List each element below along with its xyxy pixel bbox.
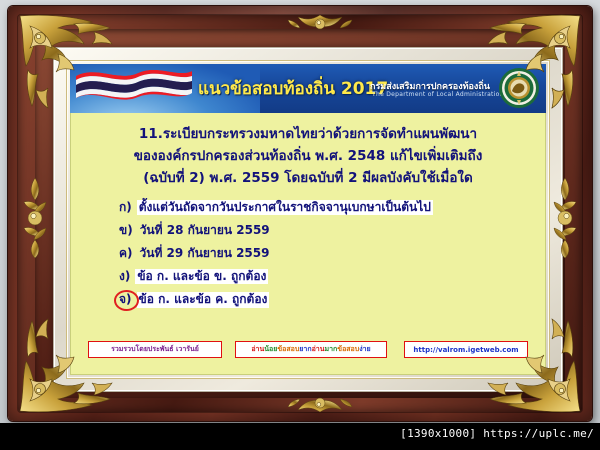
thai-flag-icon [74,66,194,108]
choice-label: ง) [118,270,131,283]
question-line: 11.ระเบียบกระทรวงมหาดไทยว่าด้วยการจัดทำแ… [84,124,532,146]
slogan-part: ยาก [299,344,311,355]
slogan-part: ข้อสอบ [337,344,359,355]
choice-text: วันที่ 29 กันยายน 2559 [138,246,272,261]
choice-text: วันที่ 28 กันยายน 2559 [138,223,272,238]
picture-frame: แนวข้อสอบท้องถิ่น 2017 กรมส่งเสริมการปกค… [8,6,592,421]
choice-text: ข้อ ก. และข้อ ข. ถูกต้อง [135,269,268,284]
top-ornament [280,12,360,42]
slogan-box: อ่านน้อยข้อสอบยาก อ่านมากข้อสอบง่าย [235,341,387,358]
website-url-box[interactable]: http://valrom.igetweb.com [404,341,528,358]
header-title: แนวข้อสอบท้องถิ่น 2017 [198,75,388,102]
exam-slide: แนวข้อสอบท้องถิ่น 2017 กรมส่งเสริมการปกค… [70,64,546,375]
question-line: ขององค์กรปกครองส่วนท้องถิ่น พ.ศ. 2548 แก… [84,146,532,168]
slide-header: แนวข้อสอบท้องถิ่น 2017 กรมส่งเสริมการปกค… [70,64,546,113]
screenshot-stage: แนวข้อสอบท้องถิ่น 2017 กรมส่งเสริมการปกค… [0,0,600,450]
choice-label: ค) [118,247,134,260]
question-text: 11.ระเบียบกระทรวงมหาดไทยว่าด้วยการจัดทำแ… [84,124,532,190]
choice-option-ka[interactable]: ก) ตั้งแต่วันถัดจากวันประกาศในราชกิจจานุ… [118,200,546,215]
slogan-part: น้อย [264,344,277,355]
choice-option-kho2[interactable]: ค) วันที่ 29 กันยายน 2559 [118,246,546,261]
choice-label-circled: จ) [118,293,133,306]
choice-label: ก) [118,201,133,214]
footer-row: รวมรวบโดยประพันธ์ เวารันย์ อ่านน้อยข้อสอ… [70,341,546,365]
slogan-part: อ่าน [251,344,264,355]
credit-box: รวมรวบโดยประพันธ์ เวารันย์ [88,341,222,358]
choice-option-ngo[interactable]: ง) ข้อ ก. และข้อ ข. ถูกต้อง [118,269,546,284]
watermark-text: [1390x1000] https://uplc.me/ [400,427,594,440]
choice-text: ข้อ ก. และข้อ ค. ถูกต้อง [137,292,270,307]
slogan-part: ข้อสอบ [277,344,299,355]
choice-option-cho[interactable]: จ) ข้อ ก. และข้อ ค. ถูกต้อง [118,292,546,307]
side-ornament-left [18,176,52,260]
department-emblem-icon [498,67,540,109]
department-name-english: The Department of Local Administration [372,91,504,98]
choice-option-kho[interactable]: ข) วันที่ 28 กันยายน 2559 [118,223,546,238]
choice-text: ตั้งแต่วันถัดจากวันประกาศในราชกิจจานุเบก… [137,200,433,215]
question-line: (ฉบับที่ 2) พ.ศ. 2559 โดยฉบับที่ 2 มีผลบ… [84,168,532,190]
choice-list: ก) ตั้งแต่วันถัดจากวันประกาศในราชกิจจานุ… [118,200,546,308]
slogan-part: ง่าย [359,344,370,355]
choice-label: ข) [118,224,134,237]
slogan-part: มาก [324,344,337,355]
slogan-part: อ่าน [312,344,325,355]
